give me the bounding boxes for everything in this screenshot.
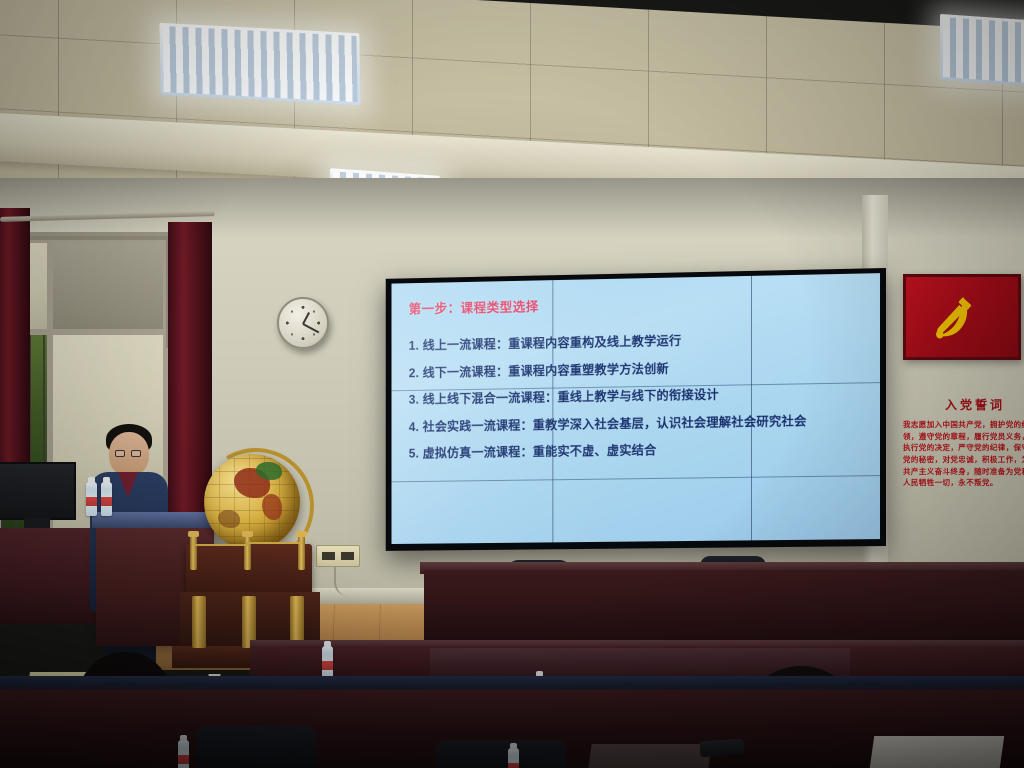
water-bottle[interactable] xyxy=(101,482,112,516)
globe-column xyxy=(192,596,206,648)
ceiling-light-panel xyxy=(159,23,360,106)
window-pane-open xyxy=(50,240,166,332)
globe-rail-post xyxy=(190,536,197,570)
fluorescent-tubes xyxy=(162,26,357,102)
chair[interactable] xyxy=(196,726,316,768)
communist-party-flag xyxy=(903,274,1021,360)
globe-landmass xyxy=(262,494,282,520)
glasses-lens xyxy=(131,450,141,457)
water-bottle[interactable] xyxy=(322,646,333,680)
paper-sheet[interactable] xyxy=(870,736,1004,768)
clock-tick-marks xyxy=(284,304,322,342)
slide-bullet-item: 4. 社会实践一流课程：重教学深入社会基层，认识社会理解社会研究社会 xyxy=(409,414,866,433)
fluorescent-tubes xyxy=(943,17,1024,85)
presentation-slide: 第一步：课程类型选择 1. 线上一流课程：重课程内容重构及线上教学运行 2. 线… xyxy=(391,273,880,544)
podium-monitor[interactable] xyxy=(0,462,76,520)
globe-rail xyxy=(194,544,248,546)
hammer-and-sickle-icon xyxy=(922,291,978,345)
slide-bullet-item: 1. 线上一流课程：重课程内容重构及线上教学运行 xyxy=(409,331,866,352)
globe-landmass xyxy=(218,510,240,528)
decorative-globe xyxy=(186,440,312,670)
slide-bullet-item: 2. 线下一流课程：重课程内容重塑教学方法创新 xyxy=(409,359,866,379)
slide-bullet-list: 1. 线上一流课程：重课程内容重构及线上教学运行 2. 线下一流课程：重课程内容… xyxy=(409,331,866,460)
smartphone[interactable] xyxy=(700,739,745,757)
outlet-socket xyxy=(341,552,354,560)
slide-bullet-item: 3. 线上线下混合一流课程：重线上教学与线下的衔接设计 xyxy=(409,386,866,406)
video-wall-display[interactable]: 第一步：课程类型选择 1. 线上一流课程：重课程内容重构及线上教学运行 2. 线… xyxy=(386,268,886,551)
wall-clock xyxy=(277,297,329,349)
water-bottle[interactable] xyxy=(178,740,189,768)
chair[interactable] xyxy=(436,740,566,768)
poster-heading: 入党誓词 xyxy=(903,396,1024,413)
water-bottle[interactable] xyxy=(86,482,97,516)
ceiling-light-panel xyxy=(940,14,1024,88)
globe-landmass xyxy=(256,462,282,480)
globe-rail xyxy=(246,542,302,544)
slide-bullet-item: 5. 虚拟仿真一流课程：重能实不虚、虚实结合 xyxy=(409,441,866,460)
power-cable xyxy=(334,566,362,596)
outlet-socket xyxy=(322,552,335,560)
poster-oath-text: 我志愿加入中国共产党，拥护党的纲领，遵守党的章程，履行党员义务，执行党的决定，严… xyxy=(903,419,1024,489)
glasses-icon xyxy=(115,450,141,457)
wall-power-outlet[interactable] xyxy=(316,545,360,567)
paper-sheet[interactable] xyxy=(588,744,711,768)
video-wall-screen: 第一步：课程类型选择 1. 线上一流课程：重课程内容重构及线上教学运行 2. 线… xyxy=(391,273,880,544)
water-bottle[interactable] xyxy=(508,748,519,768)
party-oath-poster: 入党誓词 我志愿加入中国共产党，拥护党的纲领，遵守党的章程，履行党员义务，执行党… xyxy=(903,274,1024,514)
conference-room-photo: 第一步：课程类型选择 1. 线上一流课程：重课程内容重构及线上教学运行 2. 线… xyxy=(0,0,1024,768)
glasses-lens xyxy=(115,450,125,457)
slide-title: 第一步：课程类型选择 xyxy=(409,289,866,317)
